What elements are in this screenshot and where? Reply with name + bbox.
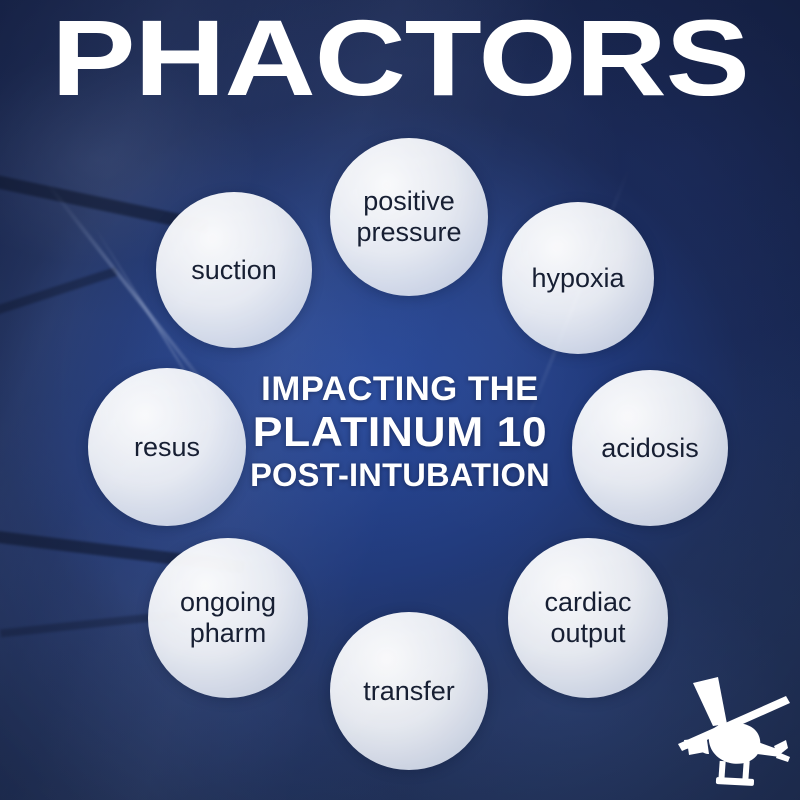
center-caption-line-3: POST-INTUBATION xyxy=(196,457,604,493)
center-caption: IMPACTING THE PLATINUM 10 POST-INTUBATIO… xyxy=(200,370,600,493)
center-caption-line-2: PLATINUM 10 xyxy=(188,409,612,455)
bubble-positive-pressure[interactable]: positivepressure xyxy=(330,138,488,296)
bubble-suction[interactable]: suction xyxy=(156,192,312,348)
center-caption-line-1: IMPACTING THE xyxy=(196,370,604,408)
bubble-label: suction xyxy=(183,255,285,286)
bubble-label: ongoingpharm xyxy=(172,587,284,649)
bubble-transfer[interactable]: transfer xyxy=(330,612,488,770)
bubble-label: positivepressure xyxy=(348,186,469,248)
helicopter-logo xyxy=(674,662,792,794)
poster-canvas: PHACTORS positivepressurehypoxiaacidosis… xyxy=(0,0,800,800)
background-streak-dark-2 xyxy=(0,267,118,322)
bubble-label: hypoxia xyxy=(523,263,632,294)
bubble-cardiac-output[interactable]: cardiacoutput xyxy=(508,538,668,698)
bubble-hypoxia[interactable]: hypoxia xyxy=(502,202,654,354)
page-title: PHACTORS xyxy=(0,2,800,114)
bubble-ongoing-pharm[interactable]: ongoingpharm xyxy=(148,538,308,698)
bubble-label: cardiacoutput xyxy=(536,587,639,649)
bubble-label: transfer xyxy=(355,676,463,707)
